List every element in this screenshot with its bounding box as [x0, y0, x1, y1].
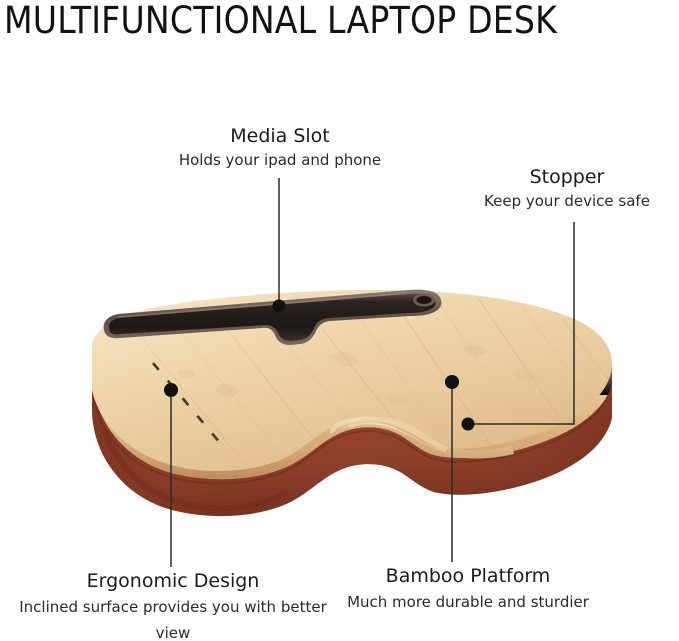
- callout-ergonomic-design: Ergonomic Design Inclined surface provid…: [8, 569, 338, 641]
- callout-subtitle: Keep your device safe: [455, 190, 679, 212]
- callout-subtitle: Much more durable and sturdier: [345, 589, 591, 615]
- callout-subtitle: Holds your ipad and phone: [145, 149, 415, 171]
- leader-dot-bamboo: [445, 375, 459, 389]
- callout-title: Stopper: [455, 165, 679, 190]
- callout-bamboo-platform: Bamboo Platform Much more durable and st…: [345, 564, 591, 615]
- callout-stopper: Stopper Keep your device safe: [455, 165, 679, 212]
- leader-dot-ergonomic: [164, 383, 178, 397]
- callout-title: Ergonomic Design: [8, 569, 338, 594]
- product-illustration: [0, 0, 679, 641]
- callout-title: Bamboo Platform: [345, 564, 591, 589]
- leader-dot-media-slot: [273, 300, 286, 313]
- callout-media-slot: Media Slot Holds your ipad and phone: [145, 124, 415, 171]
- infographic-page: MULTIFUNCTIONAL LAPTOP DESK: [0, 0, 679, 641]
- leader-dot-stopper: [462, 418, 475, 431]
- callout-subtitle: Inclined surface provides you with bette…: [8, 594, 338, 641]
- callout-title: Media Slot: [145, 124, 415, 149]
